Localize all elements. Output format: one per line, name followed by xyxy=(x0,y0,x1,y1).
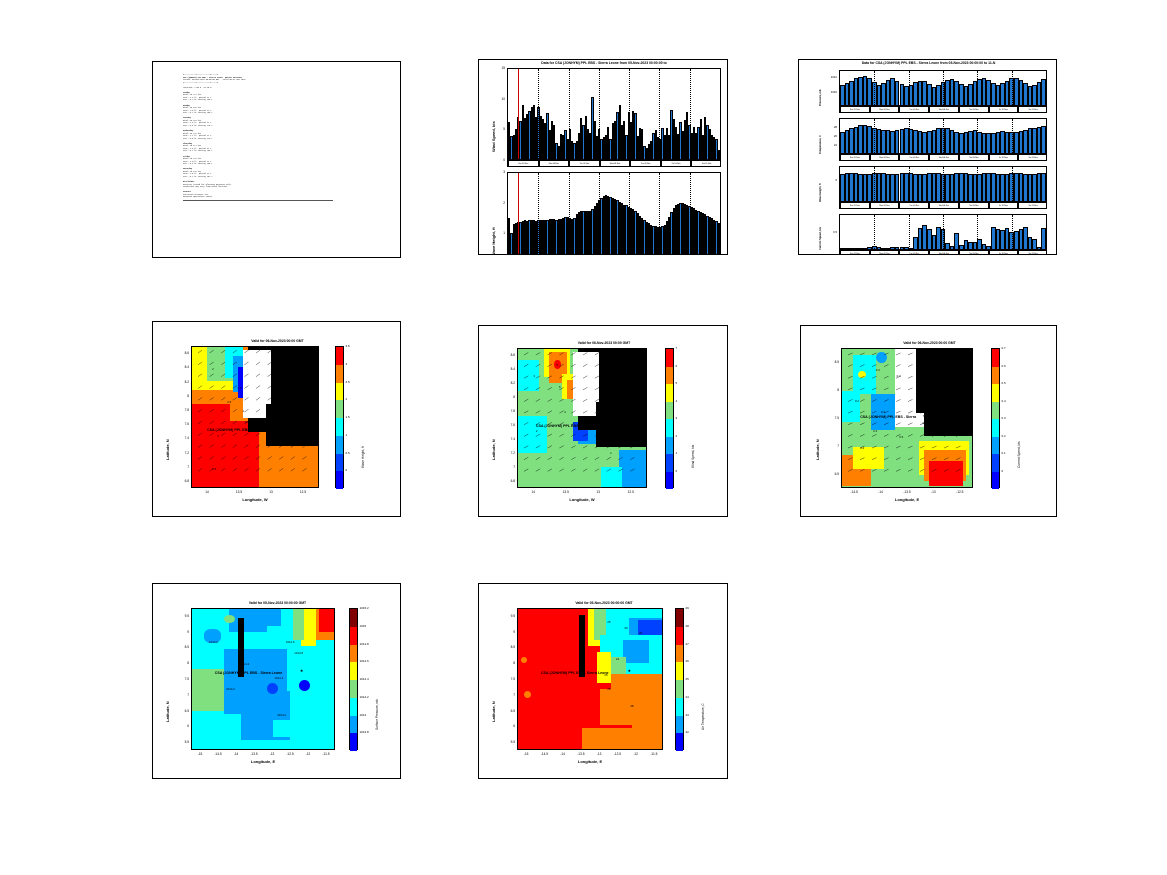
air-temperature-map-ylabel: Latitude, N xyxy=(491,701,496,722)
day-divider xyxy=(874,71,875,105)
wind-speed-map-canvas xyxy=(518,349,647,488)
air-temperature-map-canvas xyxy=(518,609,663,750)
current-speed-date-axis: Sun 05-NovMon 06-NovTue 07-NovWed 08-Nov… xyxy=(839,250,1047,255)
wind-speed-map-ytick: 8 xyxy=(497,395,515,399)
colorbar-segment xyxy=(666,384,673,402)
contour-label: 28 xyxy=(630,704,633,708)
date-label: Tue 07-Nov xyxy=(899,107,929,112)
contour-label: 4 xyxy=(564,410,566,414)
wind-speed-map-contour-band xyxy=(619,450,647,488)
date-label: Sun 05-Nov xyxy=(840,155,870,160)
day-divider xyxy=(943,119,944,153)
day-divider xyxy=(909,167,910,201)
contour-label: 1.5 xyxy=(237,386,241,390)
date-label: Sun 05-Nov xyxy=(840,251,870,255)
air-temperature-map-ytick: 6 xyxy=(497,724,515,728)
current-speed-map-colorbar-tick: 0.7 xyxy=(1002,346,1006,350)
day-divider xyxy=(538,69,539,159)
colorbar-segment xyxy=(350,609,357,627)
site-marker-icon: ★ xyxy=(923,414,927,418)
colorbar-segment xyxy=(676,716,683,734)
wind-speed-axes xyxy=(507,68,721,160)
site-marker-icon: ★ xyxy=(627,669,631,673)
colorbar-segment xyxy=(666,367,673,385)
site-stamp-label: CSA (JONHYM) PPL EBS - Sierra Leone xyxy=(541,671,609,675)
colorbar-segment xyxy=(676,698,683,716)
wave-height-map-xtick: 14 xyxy=(195,490,219,494)
air-temperature-map-xlabel: Longitude, E xyxy=(517,759,663,764)
air-temperature-map-contour-band xyxy=(597,652,612,683)
wave-height-map-xtick: 12.5 xyxy=(291,490,315,494)
wind-speed-map-panel: Valid for 06-Nov-2023 00:00 GMT564321CSA… xyxy=(478,325,728,517)
date-label: Thu 09-Nov xyxy=(959,203,989,208)
current-speed-map-colorbar-tick: 0.3 xyxy=(1002,416,1006,420)
contour-label: 2 xyxy=(536,429,538,433)
surface-pressure-map-ytick: 7.5 xyxy=(171,677,189,681)
wind-speed-map-colorbar-tick: 4 xyxy=(676,399,678,403)
day-divider xyxy=(977,215,978,249)
day-divider xyxy=(874,215,875,249)
colorbar-segment xyxy=(350,627,357,645)
contour-label: 0.5 xyxy=(245,420,249,424)
colorbar-segment xyxy=(666,472,673,490)
now-line xyxy=(518,69,519,159)
air-temperature-map-colorbar-tick: 29 xyxy=(686,606,689,610)
surface-pressure-map-canvas xyxy=(192,609,335,750)
colorbar-segment xyxy=(336,400,343,418)
wave-height-map-xlabel: Longitude, W xyxy=(191,497,319,502)
wave-height-map-panel: Valid for 06-Nov-2023 00:00 GMT22.533.51… xyxy=(152,321,401,517)
wind-speed-ylabel: Wind Speed, kts xyxy=(491,121,496,152)
wave-height-map-ytick: 7 xyxy=(171,465,189,469)
contour-label: 0.2 xyxy=(860,446,864,450)
current-speed-map-colorbar-label: Current Speed, kts xyxy=(1017,442,1021,469)
site-marker-icon: ★ xyxy=(595,422,599,426)
current-speed-map-xlabel: Longitude, E xyxy=(841,497,973,502)
current-speed-map-colorbar-tick: 0.6 xyxy=(1002,364,1006,368)
contour-label: 0.3 xyxy=(920,404,924,408)
date-label: Wed 08-Nov xyxy=(600,161,631,166)
colorbar-segment xyxy=(666,437,673,455)
contour-label: 1 xyxy=(242,409,244,413)
current-speed-map-contour-band xyxy=(876,352,887,363)
current-speed-map-panel: Valid for 06-Nov-2023 00:00 GMT0.20.30.2… xyxy=(800,325,1057,517)
contour-label: 1014.4 xyxy=(240,662,249,666)
colorbar-segment xyxy=(992,367,999,385)
surface-pressure-map-contour-band xyxy=(229,609,266,632)
surface-pressure-map-colorbar-tick: 1014.4 xyxy=(360,677,369,681)
day-divider xyxy=(690,173,691,255)
wave-height-map-canvas xyxy=(192,347,319,488)
land-mass xyxy=(238,618,244,678)
land-mass xyxy=(579,615,585,677)
contour-label: 1014.2 xyxy=(209,640,218,644)
current-speed-map-xtick: -13.5 xyxy=(895,490,919,494)
surface-pressure-map-contour-band xyxy=(273,720,293,737)
colorbar-segment xyxy=(676,680,683,698)
date-label: Mon 06-Nov xyxy=(870,155,900,160)
wave-period-date-axis: Sun 05-NovMon 06-NovTue 07-NovWed 08-Nov… xyxy=(839,202,1047,209)
date-label: Tue 07-Nov xyxy=(569,161,600,166)
date-label: Sun 05-Nov xyxy=(508,161,539,166)
colorbar-segment xyxy=(676,662,683,680)
wind-speed-map-ytick: 8.4 xyxy=(497,367,515,371)
wave-height-ytick: 3 xyxy=(493,170,505,174)
surface-pressure-map-xtick: -11.5 xyxy=(314,752,338,756)
wind-wave-timeseries-panel: Data for CSA (JONHYM) PPL EBS - Sierra L… xyxy=(478,59,728,255)
contour-label: 0.5 xyxy=(899,435,903,439)
current-speed-map-ytick: 8 xyxy=(821,388,839,392)
contour-label: 24 xyxy=(616,657,619,661)
air-temperature-map-ytick: 8 xyxy=(497,661,515,665)
contour-label: 1 xyxy=(610,451,612,455)
day-divider xyxy=(1012,119,1013,153)
surface-pressure-map-contour-band xyxy=(264,609,281,626)
air-temperature-map-ytick: 9 xyxy=(497,630,515,634)
wind-speed-map-contour-band xyxy=(518,416,547,452)
day-divider xyxy=(874,119,875,153)
surface-pressure-map-contour-band xyxy=(319,609,335,632)
surface-pressure-map-panel: Valid for 05-Nov-2023 00:00:00 GMT1014.2… xyxy=(152,583,401,779)
contour-label: 23 xyxy=(639,631,642,635)
surface-pressure-map-ytick: 7 xyxy=(171,693,189,697)
colorbar-segment xyxy=(666,349,673,367)
wave-height-map-ytick: 8.2 xyxy=(171,380,189,384)
surface-pressure-map-colorbar-tick: 1015.2 xyxy=(360,606,369,610)
air-temperature-map-colorbar-tick: 23 xyxy=(686,713,689,717)
surface-pressure-ytick: 1012 xyxy=(821,75,837,79)
surface-pressure-map-contour-band xyxy=(299,680,311,691)
current-speed-map-xtick: -12.5 xyxy=(948,490,972,494)
wind-speed-map-xtick: 13.5 xyxy=(554,490,578,494)
wind-speed-map-title: Valid for 06-Nov-2023 00:00 GMT xyxy=(479,341,728,345)
wave-height-map-ytick: 7.2 xyxy=(171,451,189,455)
day-divider xyxy=(1012,71,1013,105)
wind-speed-map-colorbar-tick: 0 xyxy=(676,469,678,473)
air-temperature-map-contour-band xyxy=(582,728,649,750)
wind-speed-map-xtick: 12.5 xyxy=(619,490,643,494)
date-label: Wed 08-Nov xyxy=(929,107,959,112)
wind-speed-map-xtick: 13 xyxy=(586,490,610,494)
air-temperature-map-ytick: 5.5 xyxy=(497,740,515,744)
date-label: Mon 06-Nov xyxy=(539,161,570,166)
air-temperature-ytick: 26 xyxy=(821,134,837,138)
colorbar-segment xyxy=(336,436,343,454)
colorbar-segment xyxy=(666,402,673,420)
contour-label: 0.4 xyxy=(933,429,937,433)
colorbar-segment xyxy=(350,680,357,698)
colorbar-segment xyxy=(350,716,357,734)
current-speed-map-ytick: 7 xyxy=(821,444,839,448)
land-mass xyxy=(924,397,973,436)
wave-height-map-ylabel: Latitude, N xyxy=(165,439,170,460)
day-divider xyxy=(659,69,660,159)
wave-height-map-ytick: 7.4 xyxy=(171,436,189,440)
colorbar-segment xyxy=(992,402,999,420)
wave-height-map-ytick: 7.8 xyxy=(171,408,189,412)
surface-pressure-map-colorbar xyxy=(349,608,358,750)
surface-pressure-map-colorbar-tick: 1014.6 xyxy=(360,659,369,663)
current-speed-map-title: Valid for 06-Nov-2023 00:00 GMT xyxy=(801,341,1057,345)
day-divider xyxy=(599,69,600,159)
current-speed-map-colorbar-tick: 0.5 xyxy=(1002,381,1006,385)
wind-speed-map-ytick: 7.8 xyxy=(497,409,515,413)
air-temperature-map-contour-band xyxy=(623,640,649,663)
contour-label: 3.5 xyxy=(212,467,216,471)
air-temperature-map-colorbar-tick: 28 xyxy=(686,624,689,628)
date-label: Sat 11-Nov xyxy=(1018,107,1047,112)
surface-pressure-map-title: Valid for 05-Nov-2023 00:00:00 GMT xyxy=(153,601,401,605)
contour-label: 26 xyxy=(625,626,628,630)
wind-speed-map-colorbar-tick: 5 xyxy=(676,381,678,385)
air-temperature-map-colorbar xyxy=(675,608,684,750)
current-speed-map-xtick: -14.5 xyxy=(842,490,866,494)
contour-label: 0.3 xyxy=(897,374,901,378)
air-temperature-bar xyxy=(1041,126,1046,153)
site-stamp-label: CSA (JONHYM) PPL EBS xyxy=(207,428,250,432)
day-divider xyxy=(569,173,570,255)
surface-pressure-date-axis: Sun 05-NovMon 06-NovTue 07-NovWed 08-Nov… xyxy=(839,106,1047,113)
wind-speed-map-ytick: 7.2 xyxy=(497,451,515,455)
contour-label: 0.3 xyxy=(881,410,885,414)
wind-speed-map-colorbar-label: Wind Speed, kts xyxy=(691,445,695,468)
date-label: Sun 05-Nov xyxy=(840,107,870,112)
contour-label: 3 xyxy=(217,434,219,438)
air-temperature-map-contour-band xyxy=(524,691,531,698)
date-label: Fri 10-Nov xyxy=(989,251,1019,255)
date-label: Sat 11-Nov xyxy=(691,161,721,166)
contour-label: 25 xyxy=(607,620,610,624)
air-temperature-map-title: Valid for 05-Nov-2023 00:00:00 GMT xyxy=(479,601,728,605)
current-speed-map-ylabel: Latitude, N xyxy=(815,439,820,460)
contour-label: 2 xyxy=(212,367,214,371)
surface-pressure-map-xlabel: Longitude, E xyxy=(191,759,335,764)
contour-label: 1014.2 xyxy=(277,713,286,717)
date-label: Thu 09-Nov xyxy=(959,107,989,112)
date-label: Wed 08-Nov xyxy=(929,251,959,255)
date-label: Wed 08-Nov xyxy=(929,155,959,160)
wind-speed-ytick: 5 xyxy=(493,127,505,131)
date-label: Fri 10-Nov xyxy=(989,155,1019,160)
current-speed-map-xtick: -14 xyxy=(869,490,893,494)
air-temperature-map-ytick: 8.5 xyxy=(497,645,515,649)
date-label: Thu 09-Nov xyxy=(630,161,661,166)
multi-timeseries-title: Data for CSA (JONHYM) PPL EBS - Sierra L… xyxy=(799,61,1057,65)
contour-label: 0.6 xyxy=(923,421,927,425)
site-stamp-label: CSA (JONHYM) PPL EBS - Sierra xyxy=(860,415,916,419)
air-temperature-map-xtick: -11.5 xyxy=(642,752,666,756)
day-divider xyxy=(629,69,630,159)
surface-pressure-map-colorbar-tick: 1014.8 xyxy=(360,642,369,646)
surface-pressure-map-ytick: 8 xyxy=(171,661,189,665)
colorbar-segment xyxy=(350,662,357,680)
wave-height-map-colorbar-tick: 0.5 xyxy=(346,451,350,455)
site-stamp-label: CSA (JONHYM) PPL EBS - Sierra xyxy=(536,424,592,428)
current-speed-map-axes: 0.20.30.20.30.40.50.60.40.30.2CSA (JONHY… xyxy=(841,348,973,488)
colorbar-segment xyxy=(336,454,343,472)
day-divider xyxy=(909,119,910,153)
wind-speed-map-colorbar xyxy=(665,348,674,488)
surface-pressure-map-ytick: 5.5 xyxy=(171,740,189,744)
colorbar-segment xyxy=(336,347,343,365)
wave-height-ytick: 1 xyxy=(493,231,505,235)
colorbar-segment xyxy=(666,454,673,472)
day-divider xyxy=(977,119,978,153)
colorbar-segment xyxy=(336,471,343,489)
current-speed-map-colorbar-tick: 0 xyxy=(1002,469,1004,473)
wind-speed-map-xlabel: Longitude, W xyxy=(517,497,647,502)
current-speed-bar xyxy=(1041,228,1046,249)
colorbar-segment xyxy=(676,645,683,663)
colorbar-segment xyxy=(992,419,999,437)
day-divider xyxy=(977,167,978,201)
surface-pressure-map-colorbar-tick: 1015 xyxy=(360,624,367,628)
wind-speed-map-ytick: 8.6 xyxy=(497,353,515,357)
colorbar-segment xyxy=(676,627,683,645)
wind-speed-map-contour-band xyxy=(518,360,539,391)
site-marker-icon: ★ xyxy=(265,427,269,431)
wind-speed-map-colorbar-tick: 1 xyxy=(676,451,678,455)
colorbar-segment xyxy=(666,419,673,437)
air-temperature-map-colorbar-tick: 27 xyxy=(686,642,689,646)
wave-height-map-ytick: 7.6 xyxy=(171,422,189,426)
wave-height-map-title: Valid for 06-Nov-2023 00:00 GMT xyxy=(153,339,401,343)
current-speed-map-colorbar xyxy=(991,348,1000,488)
air-temperature-ytick: 24 xyxy=(821,143,837,147)
wind-speed-ytick: 15 xyxy=(493,66,505,70)
colorbar-segment xyxy=(676,733,683,751)
date-label: Sun 05-Nov xyxy=(840,203,870,208)
wave-height-axes xyxy=(507,172,721,255)
date-label: Thu 09-Nov xyxy=(959,251,989,255)
timeseries-title: Data for CSA (JONHYM) PPL EBS - Sierra L… xyxy=(479,61,728,65)
colorbar-segment xyxy=(992,454,999,472)
surface-pressure-map-contour-band xyxy=(293,609,305,640)
contour-label: 3 xyxy=(533,374,535,378)
surface-pressure-map-ytick: 6.5 xyxy=(171,709,189,713)
air-temperature-axes xyxy=(839,118,1047,154)
day-divider xyxy=(977,71,978,105)
date-label: Thu 09-Nov xyxy=(959,155,989,160)
wind-speed-map-colorbar-tick: 3 xyxy=(676,416,678,420)
air-temperature-map-panel: Valid for 05-Nov-2023 00:00:00 GMT252623… xyxy=(478,583,728,779)
date-label: Mon 06-Nov xyxy=(870,203,900,208)
day-divider xyxy=(943,215,944,249)
surface-pressure-map-ylabel: Latitude, N xyxy=(165,701,170,722)
surface-pressure-map-colorbar-tick: 1014.2 xyxy=(360,695,369,699)
surface-pressure-map-colorbar-tick: 1014 xyxy=(360,713,367,717)
multi-parameter-timeseries-panel: Data for CSA (JONHYM) PPL EBS - Sierra L… xyxy=(798,59,1057,255)
report-text-body: +----------+------------+-----+CSA (JONH… xyxy=(183,74,394,253)
surface-pressure-map-ytick: 6 xyxy=(171,724,189,728)
wind-speed-map-ytick: 7 xyxy=(497,465,515,469)
day-divider xyxy=(909,215,910,249)
land-mass xyxy=(266,404,319,447)
wind-speed-map-ytick: 8.2 xyxy=(497,381,515,385)
land-mass xyxy=(596,402,647,447)
date-label: Sat 11-Nov xyxy=(1018,155,1047,160)
wind-speed-ytick: 0 xyxy=(493,158,505,162)
surface-pressure-map-contour-band xyxy=(192,669,224,712)
forecast-report-panel: +----------+------------+-----+CSA (JONH… xyxy=(152,61,401,258)
contour-label: 0.2 xyxy=(855,399,859,403)
air-temperature-map-ytick: 6.5 xyxy=(497,709,515,713)
day-divider xyxy=(690,69,691,159)
air-temperature-map-ytick: 9.5 xyxy=(497,614,515,618)
day-divider xyxy=(943,71,944,105)
current-speed-map-colorbar-tick: 0.1 xyxy=(1002,451,1006,455)
surface-pressure-map-ytick: 9.5 xyxy=(171,614,189,618)
contour-label: 0.4 xyxy=(873,429,877,433)
wave-period-ylabel: Wave Height, ft xyxy=(819,183,822,202)
air-temperature-map-axes: 25262324252628CSA (JONHYM) PPL EBS - Sie… xyxy=(517,608,663,750)
current-speed-map-ytick: 6.5 xyxy=(821,472,839,476)
surface-pressure-map-ytick: 9 xyxy=(171,630,189,634)
air-temperature-map-colorbar-tick: 24 xyxy=(686,695,689,699)
colorbar-segment xyxy=(336,365,343,383)
date-label: Sat 11-Nov xyxy=(1018,203,1047,208)
day-divider xyxy=(629,173,630,255)
air-temperature-map-ytick: 7 xyxy=(497,693,515,697)
air-temperature-map-colorbar-tick: 22 xyxy=(686,730,689,734)
now-line xyxy=(518,173,519,255)
report-line: Metocean Operations Center xyxy=(183,196,394,199)
contour-label: 0.2 xyxy=(876,368,880,372)
day-divider xyxy=(1012,215,1013,249)
colorbar-segment xyxy=(336,383,343,401)
date-label: Fri 10-Nov xyxy=(661,161,692,166)
wind-speed-map-axes: 564321CSA (JONHYM) PPL EBS - Sierra★ xyxy=(517,348,647,488)
wind-speed-map-contour-band xyxy=(601,467,622,488)
contour-label: 1014.6 xyxy=(286,640,295,644)
wind-speed-map-colorbar-tick: 2 xyxy=(676,434,678,438)
wave-height-map-ytick: 8.6 xyxy=(171,351,189,355)
surface-pressure-map-ytick: 8.5 xyxy=(171,645,189,649)
contour-label: 2.5 xyxy=(270,439,274,443)
site-marker-icon: ★ xyxy=(300,669,304,673)
wind-speed-map-ytick: 7.6 xyxy=(497,423,515,427)
date-label: Mon 06-Nov xyxy=(870,107,900,112)
wind-speed-ytick: 10 xyxy=(493,97,505,101)
wave-height-map-ytick: 8.4 xyxy=(171,365,189,369)
contour-label: 5 xyxy=(556,363,558,367)
current-speed-ytick: 0.5 xyxy=(821,230,837,234)
wave-height-map-xtick: 13.5 xyxy=(227,490,251,494)
wave-height-map-colorbar-label: Wave Height, ft xyxy=(361,446,365,468)
current-speed-map-colorbar-tick: 0.2 xyxy=(1002,434,1006,438)
contour-label: 6 xyxy=(559,385,561,389)
air-temperature-date-axis: Sun 05-NovMon 06-NovTue 07-NovWed 08-Nov… xyxy=(839,154,1047,161)
colorbar-segment xyxy=(992,472,999,490)
wind-speed-map-xtick: 14 xyxy=(521,490,545,494)
colorbar-segment xyxy=(350,733,357,751)
land-mass xyxy=(573,352,599,416)
wave-height-map-ytick: 8 xyxy=(171,394,189,398)
surface-pressure-map-colorbar-label: Surface Pressure, mb xyxy=(375,699,379,730)
colorbar-segment xyxy=(350,698,357,716)
day-divider xyxy=(909,71,910,105)
current-speed-map-contour-band xyxy=(929,461,963,486)
wind-speed-bar xyxy=(718,150,720,159)
contour-label: 1014.2 xyxy=(226,687,235,691)
date-label: Tue 07-Nov xyxy=(899,155,929,160)
current-speed-axes xyxy=(839,214,1047,250)
colorbar-segment xyxy=(336,418,343,436)
wave-height-map-colorbar-tick: 2 xyxy=(346,397,348,401)
contour-label: 2.5 xyxy=(227,400,231,404)
date-label: Tue 07-Nov xyxy=(899,251,929,255)
surface-pressure-map-axes: 1014.21014.41014.61014.81014.41014.21014… xyxy=(191,608,335,750)
